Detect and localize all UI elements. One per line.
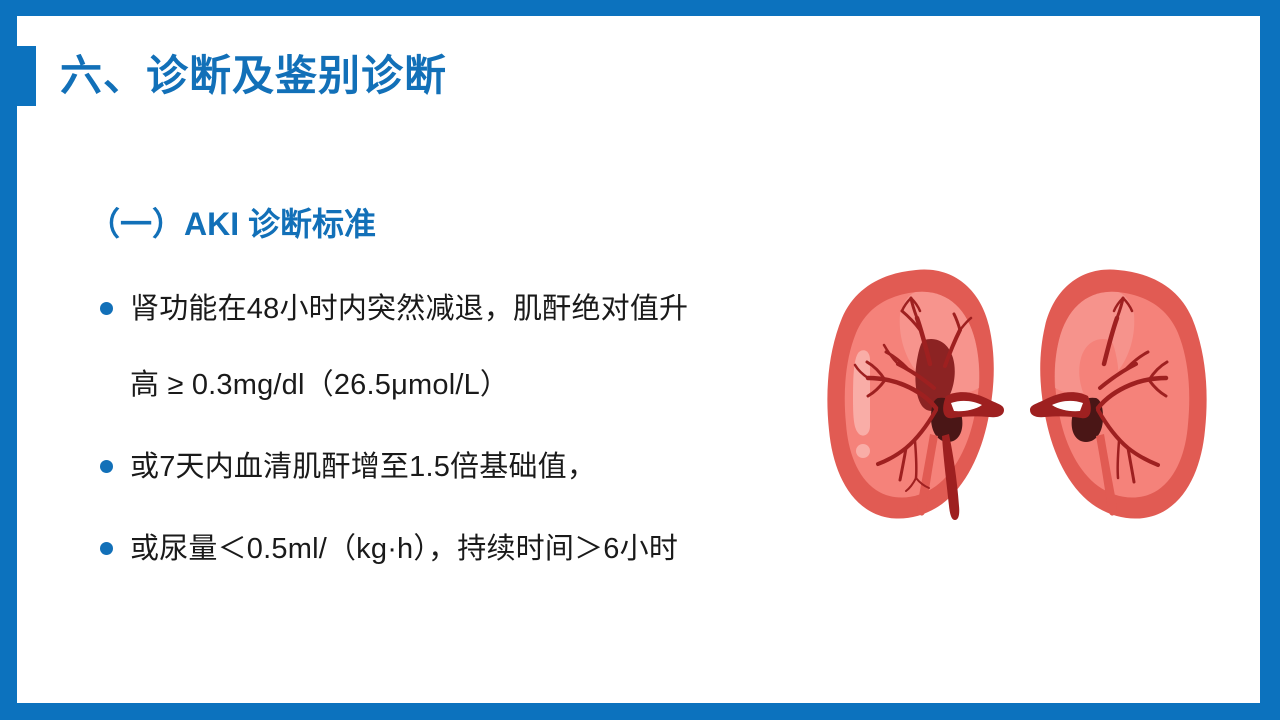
slide: 六、诊断及鉴别诊断 （一）AKI 诊断标准 肾功能在48小时内突然减退，肌酐绝对… [0, 0, 1280, 720]
frame-band-bottom [0, 703, 1280, 720]
bullet-text: 或尿量＜0.5ml/（kg·h），持续时间＞6小时 [130, 528, 678, 570]
bullet-indent-spacer [100, 378, 113, 391]
frame-band-left [0, 0, 17, 720]
list-item: 或尿量＜0.5ml/（kg·h），持续时间＞6小时 [100, 528, 800, 604]
bullet-text: 高 ≥ 0.3mg/dl（26.5μmol/L） [130, 364, 509, 406]
frame-band-right [1260, 0, 1280, 720]
frame-band-top [0, 0, 1280, 16]
bullet-dot-icon [100, 302, 113, 315]
bullet-dot-icon [100, 460, 113, 473]
kidneys-illustration [812, 248, 1222, 548]
title-accent-bar [17, 46, 36, 106]
left-kidney-icon [827, 270, 1004, 520]
bullet-text: 肾功能在48小时内突然减退，肌酐绝对值升 [130, 288, 688, 330]
bullet-line: 或尿量＜0.5ml/（kg·h），持续时间＞6小时 [100, 528, 800, 604]
bullet-list: 肾功能在48小时内突然减退，肌酐绝对值升 高 ≥ 0.3mg/dl（26.5μm… [100, 288, 800, 610]
list-item: 或7天内血清肌酐增至1.5倍基础值， [100, 446, 800, 522]
page-title: 六、诊断及鉴别诊断 [60, 48, 447, 104]
bullet-text: 或7天内血清肌酐增至1.5倍基础值， [130, 446, 596, 488]
section-subtitle: （一）AKI 诊断标准 [88, 203, 376, 245]
list-item: 肾功能在48小时内突然减退，肌酐绝对值升 高 ≥ 0.3mg/dl（26.5μm… [100, 288, 800, 440]
bullet-line: 肾功能在48小时内突然减退，肌酐绝对值升 [100, 288, 800, 364]
bullet-dot-icon [100, 542, 113, 555]
bullet-line: 高 ≥ 0.3mg/dl（26.5μmol/L） [100, 364, 800, 440]
right-kidney-icon [1030, 270, 1207, 519]
bullet-line: 或7天内血清肌酐增至1.5倍基础值， [100, 446, 800, 522]
